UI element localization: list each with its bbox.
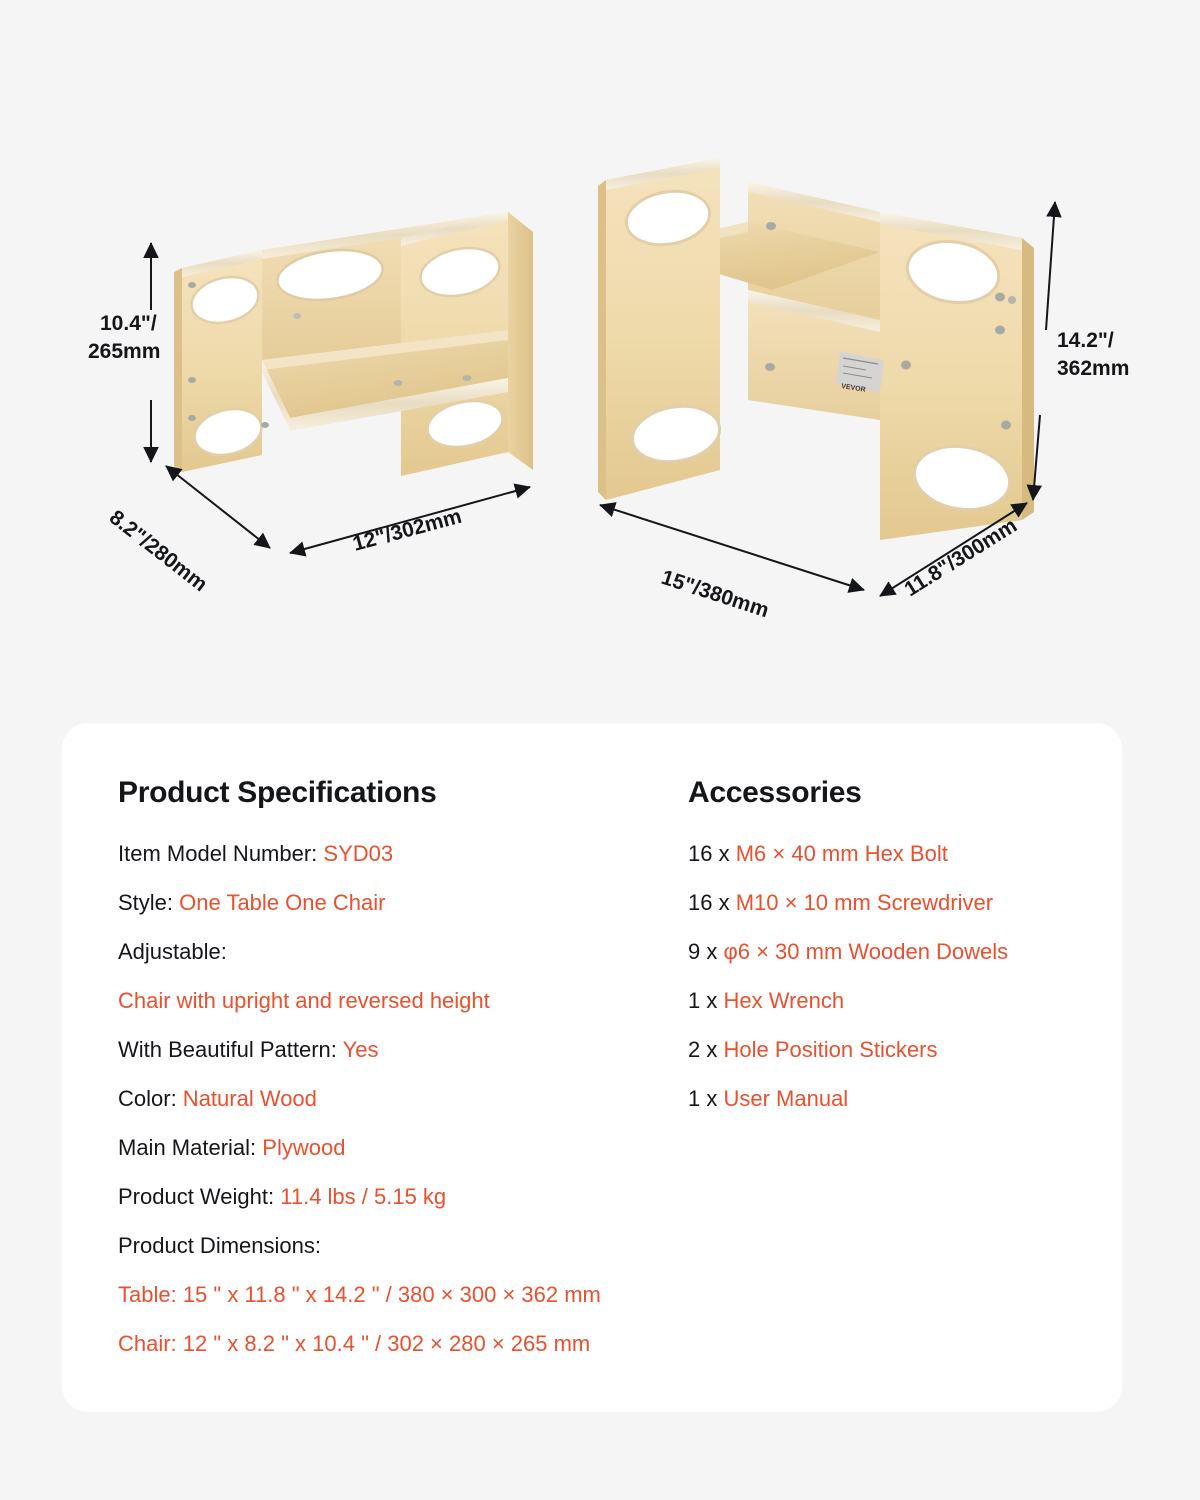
spec-row: Color: Natural Wood [118, 1074, 688, 1123]
spec-row: Item Model Number: SYD03 [118, 829, 688, 878]
accessory-name: Hole Position Stickers [717, 1037, 937, 1062]
diagram-svg: 10.4"/ 265mm 8.2"/280mm 12"/302mm [0, 0, 1200, 700]
spec-value: Natural Wood [177, 1086, 317, 1111]
chair-depth-dimension: 8.2"/280mm [105, 466, 270, 596]
spec-label: Product Weight: [118, 1184, 274, 1209]
chair-illustration [174, 212, 533, 476]
chair-depth-label: 8.2"/280mm [105, 506, 212, 596]
spec-row: Table: 15 " x 11.8 " x 14.2 " / 380 × 30… [118, 1270, 688, 1319]
spec-row: With Beautiful Pattern: Yes [118, 1025, 688, 1074]
spec-label: Adjustable: [118, 939, 227, 964]
spec-row: Main Material: Plywood [118, 1123, 688, 1172]
spec-value: Yes [337, 1037, 379, 1062]
accessories-list: 16 x M6 × 40 mm Hex Bolt16 x M10 × 10 mm… [688, 829, 1108, 1123]
accessories-heading: Accessories [688, 775, 1108, 811]
chair-width-label: 12"/302mm [350, 505, 464, 556]
spec-value: 11.4 lbs / 5.15 kg [274, 1184, 446, 1209]
table-height-dimension: 14.2"/ 362mm [1033, 202, 1129, 500]
accessory-row: 16 x M6 × 40 mm Hex Bolt [688, 829, 1108, 878]
accessory-quantity: 16 x [688, 890, 730, 915]
accessory-name: M10 × 10 mm Screwdriver [730, 890, 993, 915]
accessory-quantity: 1 x [688, 988, 717, 1013]
accessory-row: 16 x M10 × 10 mm Screwdriver [688, 878, 1108, 927]
spec-label: Color: [118, 1086, 177, 1111]
accessory-name: M6 × 40 mm Hex Bolt [730, 841, 948, 866]
chair-width-dimension: 12"/302mm [290, 487, 530, 556]
spec-label: Style: [118, 890, 173, 915]
table-width-label: 15"/380mm [658, 566, 771, 622]
accessory-row: 9 x φ6 × 30 mm Wooden Dowels [688, 927, 1108, 976]
spec-row: Style: One Table One Chair [118, 878, 688, 927]
specifications-heading: Product Specifications [118, 775, 688, 811]
spec-value: One Table One Chair [173, 890, 385, 915]
accessory-quantity: 9 x [688, 939, 717, 964]
specification-card: Product Specifications Item Model Number… [62, 723, 1122, 1412]
spec-label: Product Dimensions: [118, 1233, 321, 1258]
accessory-name: User Manual [717, 1086, 848, 1111]
specifications-column: Product Specifications Item Model Number… [118, 775, 688, 1368]
accessory-row: 1 x Hex Wrench [688, 976, 1108, 1025]
spec-row: Chair: 12 " x 8.2 " x 10.4 " / 302 × 280… [118, 1319, 688, 1368]
accessory-name: φ6 × 30 mm Wooden Dowels [717, 939, 1008, 964]
accessory-quantity: 2 x [688, 1037, 717, 1062]
accessory-row: 1 x User Manual [688, 1074, 1108, 1123]
spec-value: Plywood [256, 1135, 345, 1160]
table-width-dimension: 15"/380mm [600, 505, 864, 622]
chair-height-dimension: 10.4"/ 265mm [88, 243, 160, 462]
spec-row: Product Dimensions: [118, 1221, 688, 1270]
table-height-label-line1: 14.2"/ [1057, 329, 1114, 352]
accessory-quantity: 16 x [688, 841, 730, 866]
accessory-name: Hex Wrench [717, 988, 844, 1013]
product-diagram: 10.4"/ 265mm 8.2"/280mm 12"/302mm [0, 0, 1200, 700]
spec-row: Chair with upright and reversed height [118, 976, 688, 1025]
chair-height-label-line1: 10.4"/ [100, 312, 157, 335]
accessories-column: Accessories 16 x M6 × 40 mm Hex Bolt16 x… [688, 775, 1108, 1123]
accessory-quantity: 1 x [688, 1086, 717, 1111]
table-height-label-line2: 362mm [1057, 357, 1129, 380]
spec-label: Item Model Number: [118, 841, 317, 866]
spec-label: Main Material: [118, 1135, 256, 1160]
specifications-list: Item Model Number: SYD03Style: One Table… [118, 829, 688, 1368]
spec-row: Adjustable: [118, 927, 688, 976]
spec-row: Product Weight: 11.4 lbs / 5.15 kg [118, 1172, 688, 1221]
chair-height-label-line2: 265mm [88, 340, 160, 363]
table-illustration: VEVOR [598, 158, 1034, 540]
spec-label: With Beautiful Pattern: [118, 1037, 337, 1062]
accessory-row: 2 x Hole Position Stickers [688, 1025, 1108, 1074]
spec-value: SYD03 [317, 841, 393, 866]
